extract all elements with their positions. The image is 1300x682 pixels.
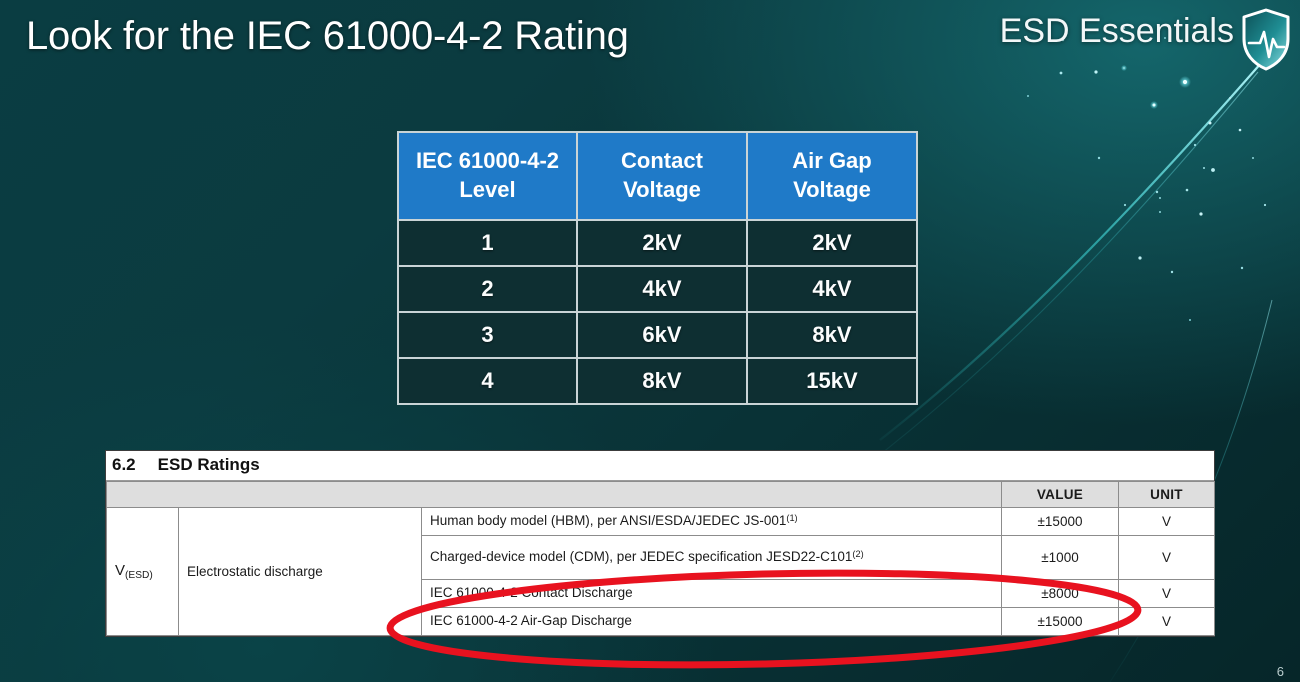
cell-parameter: Electrostatic discharge: [179, 508, 422, 636]
footnote-marker: (1): [786, 513, 797, 523]
cell-contact: 2kV: [577, 220, 747, 266]
cell-level: 1: [398, 220, 577, 266]
cell-unit: V: [1119, 580, 1215, 608]
cell-level: 2: [398, 266, 577, 312]
page-title: Look for the IEC 61000-4-2 Rating: [26, 14, 629, 59]
table-row: 2 4kV 4kV: [398, 266, 917, 312]
cell-level: 4: [398, 358, 577, 404]
cell-level: 3: [398, 312, 577, 358]
section-number: 6.2: [112, 455, 136, 475]
page-number: 6: [1277, 664, 1284, 679]
table-row: 3 6kV 8kV: [398, 312, 917, 358]
cell-value: ±8000: [1002, 580, 1119, 608]
header-line-2: Voltage: [623, 177, 701, 202]
cell-description: IEC 61000-4-2 Air-Gap Discharge: [422, 608, 1002, 636]
column-header-contact-voltage: Contact Voltage: [577, 132, 747, 220]
column-header-blank-description: [422, 482, 1002, 508]
esd-ratings-table: VALUE UNIT V(ESD) Electrostatic discharg…: [106, 481, 1215, 636]
footnote-marker: (2): [852, 549, 863, 559]
column-header-unit: UNIT: [1119, 482, 1215, 508]
cell-unit: V: [1119, 608, 1215, 636]
brand-lockup: ESD Essentials: [1000, 8, 1292, 72]
cell-airgap: 8kV: [747, 312, 917, 358]
brand-label: ESD Essentials: [1000, 8, 1234, 51]
cell-value: ±15000: [1002, 608, 1119, 636]
cell-contact: 8kV: [577, 358, 747, 404]
cell-description: Human body model (HBM), per ANSI/ESDA/JE…: [422, 508, 1002, 536]
column-header-blank-symbol: [107, 482, 179, 508]
column-header-level: IEC 61000-4-2 Level: [398, 132, 577, 220]
cell-unit: V: [1119, 536, 1215, 580]
cell-contact: 6kV: [577, 312, 747, 358]
table-header-row: VALUE UNIT: [107, 482, 1215, 508]
cell-airgap: 15kV: [747, 358, 917, 404]
header-line-2: Level: [459, 177, 515, 202]
cell-value: ±1000: [1002, 536, 1119, 580]
shield-pulse-icon: [1240, 8, 1292, 72]
table-row: 1 2kV 2kV: [398, 220, 917, 266]
cell-symbol: V(ESD): [107, 508, 179, 636]
description-text: Charged-device model (CDM), per JEDEC sp…: [430, 549, 852, 564]
cell-value: ±15000: [1002, 508, 1119, 536]
header-line-1: Contact: [621, 148, 703, 173]
cell-description: Charged-device model (CDM), per JEDEC sp…: [422, 536, 1002, 580]
table-row: 4 8kV 15kV: [398, 358, 917, 404]
description-text: Human body model (HBM), per ANSI/ESDA/JE…: [430, 513, 786, 528]
iec-level-table: IEC 61000-4-2 Level Contact Voltage Air …: [397, 131, 918, 405]
cell-airgap: 2kV: [747, 220, 917, 266]
cell-unit: V: [1119, 508, 1215, 536]
symbol-subscript: (ESD): [125, 570, 153, 581]
table-row: V(ESD) Electrostatic discharge Human bod…: [107, 508, 1215, 536]
column-header-blank-parameter: [179, 482, 422, 508]
symbol-base: V: [115, 562, 125, 579]
datasheet-section-heading: 6.2 ESD Ratings: [106, 451, 1214, 481]
section-title: ESD Ratings: [158, 455, 260, 475]
header-line-1: Air Gap: [792, 148, 871, 173]
header-line-1: IEC 61000-4-2: [416, 148, 559, 173]
header-line-2: Voltage: [793, 177, 871, 202]
cell-airgap: 4kV: [747, 266, 917, 312]
cell-contact: 4kV: [577, 266, 747, 312]
table-header-row: IEC 61000-4-2 Level Contact Voltage Air …: [398, 132, 917, 220]
presentation-slide: Look for the IEC 61000-4-2 Rating ESD Es…: [0, 0, 1300, 682]
column-header-value: VALUE: [1002, 482, 1119, 508]
cell-description: IEC 61000-4-2 Contact Discharge: [422, 580, 1002, 608]
column-header-air-gap-voltage: Air Gap Voltage: [747, 132, 917, 220]
datasheet-excerpt: 6.2 ESD Ratings VALUE UNIT V(ESD) Elect: [105, 450, 1215, 637]
